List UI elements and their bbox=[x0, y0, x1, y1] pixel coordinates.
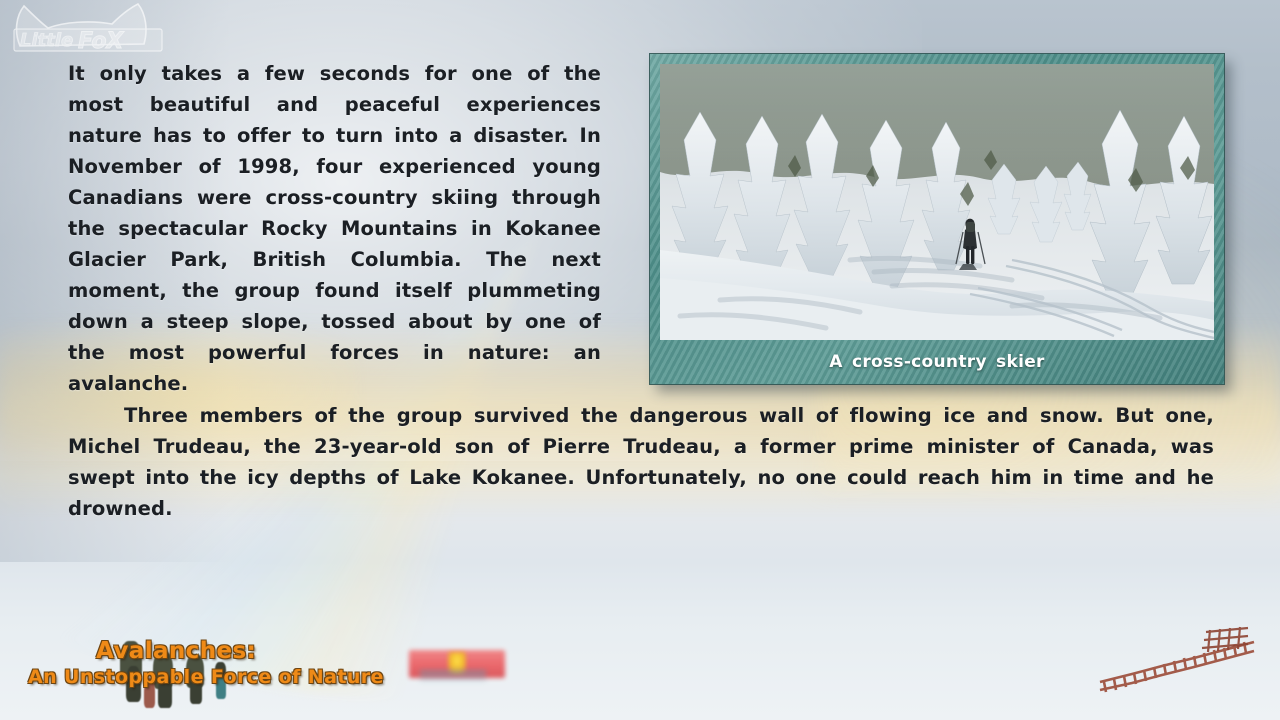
little-fox-logo: Little FoX bbox=[6, 2, 174, 58]
logo-text-fox: FoX bbox=[78, 29, 124, 54]
lesson-title-line-2: An Unstoppable Force of Nature bbox=[28, 665, 448, 689]
little-fox-logo-svg: Little FoX bbox=[6, 2, 174, 58]
logo-text-little: Little bbox=[20, 30, 73, 51]
lesson-title-line-1: Avalanches: bbox=[28, 638, 448, 664]
article-body: It only takes a few seconds for one of t… bbox=[68, 58, 1220, 524]
snow-fence-svg bbox=[1098, 626, 1258, 712]
lesson-title: Avalanches: An Unstoppable Force of Natu… bbox=[28, 638, 448, 689]
avalanche-snow-fences bbox=[1098, 626, 1258, 712]
slide-stage: Little FoX bbox=[0, 0, 1280, 720]
paragraph-1: It only takes a few seconds for one of t… bbox=[68, 58, 601, 399]
paragraph-2: Three members of the group survived the … bbox=[68, 400, 1214, 524]
